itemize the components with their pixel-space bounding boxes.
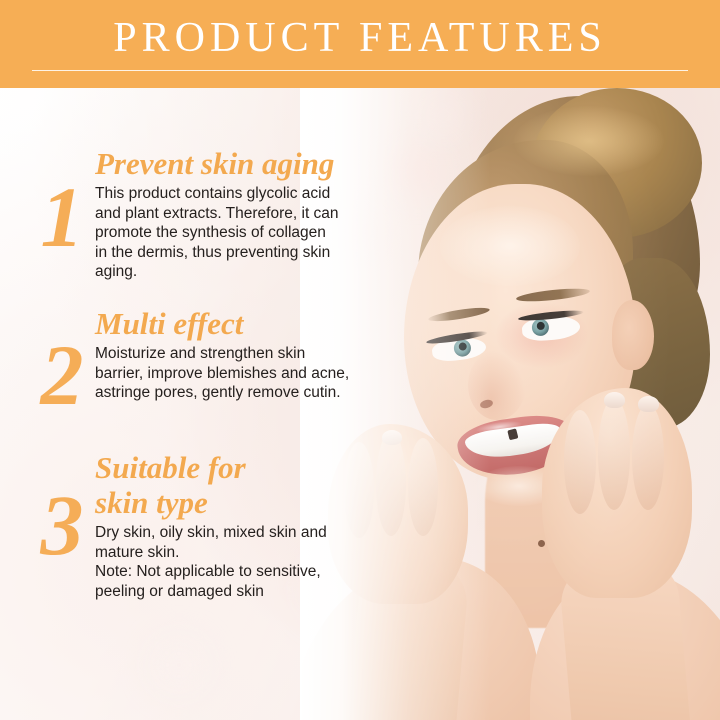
feature-title: Prevent skin aging: [95, 146, 355, 181]
feature-number: 3: [26, 482, 98, 568]
feature-text: Moisturize and strengthen skin barrier, …: [95, 344, 355, 403]
feature-title: Suitable for skin type: [95, 450, 355, 520]
header-band: PRODUCT FEATURES: [0, 0, 720, 88]
feature-number: 2: [26, 332, 98, 418]
model-portrait-photo: [300, 88, 720, 720]
feature-body: Prevent skin aging This product contains…: [95, 146, 355, 282]
feature-body: Suitable for skin type Dry skin, oily sk…: [95, 450, 355, 601]
feature-text: Dry skin, oily skin, mixed skin and matu…: [95, 523, 355, 601]
feature-body: Multi effect Moisturize and strengthen s…: [95, 306, 355, 403]
page-title: PRODUCT FEATURES: [0, 14, 720, 62]
header-divider: [32, 70, 688, 71]
feature-number: 1: [26, 174, 98, 260]
feature-title: Multi effect: [95, 306, 355, 341]
feature-text: This product contains glycolic acid and …: [95, 184, 355, 282]
product-features-poster: PRODUCT FEATURES 1 Prevent skin aging Th…: [0, 0, 720, 720]
